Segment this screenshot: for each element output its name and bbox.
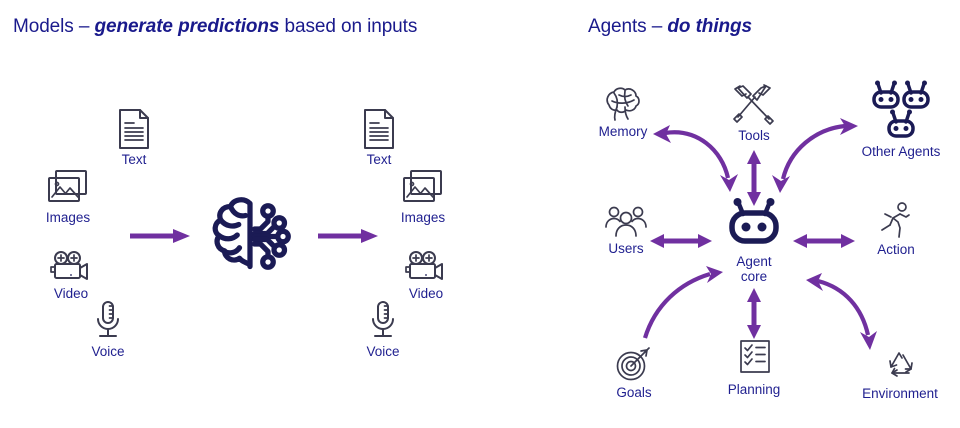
right-panel-arrow-layer <box>0 0 960 428</box>
input-node-text-label: Text <box>122 152 147 167</box>
agent-node-action: Action <box>862 202 930 257</box>
microphone-icon <box>93 300 123 342</box>
agent-node-users: Users <box>592 205 660 256</box>
output-node-voice: Voice <box>352 300 414 359</box>
input-node-video-label: Video <box>54 286 88 301</box>
microphone-icon <box>368 300 398 342</box>
robot-head-icon <box>724 198 784 252</box>
document-text-icon <box>362 108 396 150</box>
agent-node-tools-label: Tools <box>738 128 770 143</box>
agent-core-label-line1: Agent <box>724 254 784 269</box>
left-title-emphasis: generate predictions <box>94 16 279 37</box>
agent-node-memory: Memory <box>587 88 659 139</box>
video-camera-icon <box>50 250 92 284</box>
agent-node-planning-label: Planning <box>728 382 781 397</box>
output-node-voice-label: Voice <box>366 344 399 359</box>
document-text-icon <box>117 108 151 150</box>
input-node-text: Text <box>103 108 165 167</box>
input-node-video: Video <box>40 250 102 301</box>
three-robots-icon <box>869 80 933 142</box>
left-title-suffix: based on inputs <box>279 16 417 37</box>
agent-node-environment-label: Environment <box>862 386 938 401</box>
target-dartboard-icon <box>614 345 654 383</box>
agent-node-goals-label: Goals <box>616 385 651 400</box>
agent-core-node: Agent core <box>716 198 792 284</box>
agent-node-other-agents: Other Agents <box>853 80 949 159</box>
right-panel-title: Agents – do things <box>588 16 752 38</box>
video-camera-icon <box>405 250 447 284</box>
model-to-outputs-arrow <box>318 229 378 243</box>
inputs-to-model-arrow <box>130 229 190 243</box>
input-node-voice: Voice <box>77 300 139 359</box>
brain-outline-icon <box>602 88 644 122</box>
right-title-emphasis: do things <box>667 16 752 37</box>
planning-core-arrow <box>747 288 761 339</box>
agent-node-goals: Goals <box>600 345 668 400</box>
running-person-icon <box>878 202 914 240</box>
checklist-icon <box>734 338 774 380</box>
input-node-voice-label: Voice <box>91 344 124 359</box>
agent-node-memory-label: Memory <box>599 124 648 139</box>
model-core-node <box>205 190 295 280</box>
hammers-icon <box>731 84 777 126</box>
action-core-arrow <box>793 234 855 248</box>
agent-node-planning: Planning <box>716 338 792 397</box>
output-node-images: Images <box>392 168 454 225</box>
ai-brain-circuit-icon <box>205 190 295 280</box>
input-node-images-label: Images <box>46 210 90 225</box>
agent-node-tools: Tools <box>718 84 790 143</box>
agent-node-action-label: Action <box>877 242 915 257</box>
left-panel-title: Models – generate predictions based on i… <box>13 16 417 38</box>
agent-node-environment: Environment <box>852 344 948 401</box>
images-stack-icon <box>401 168 445 208</box>
output-node-text-label: Text <box>367 152 392 167</box>
left-title-prefix: Models – <box>13 16 94 37</box>
right-title-prefix: Agents – <box>588 16 667 37</box>
environment-core-arrow <box>806 273 877 350</box>
agent-node-users-label: Users <box>608 241 643 256</box>
output-node-video-label: Video <box>409 286 443 301</box>
output-node-video: Video <box>395 250 457 301</box>
recycle-cycle-icon <box>878 344 922 384</box>
images-stack-icon <box>46 168 90 208</box>
output-node-text: Text <box>348 108 410 167</box>
agent-core-label-line2: core <box>724 269 784 284</box>
slide-canvas: Models – generate predictions based on i… <box>0 0 960 428</box>
input-node-images: Images <box>37 168 99 225</box>
agent-node-other-agents-label: Other Agents <box>862 144 941 159</box>
people-group-icon <box>604 205 648 239</box>
output-node-images-label: Images <box>401 210 445 225</box>
left-panel-arrow-layer <box>0 0 960 428</box>
goals-core-arrow <box>645 266 723 338</box>
